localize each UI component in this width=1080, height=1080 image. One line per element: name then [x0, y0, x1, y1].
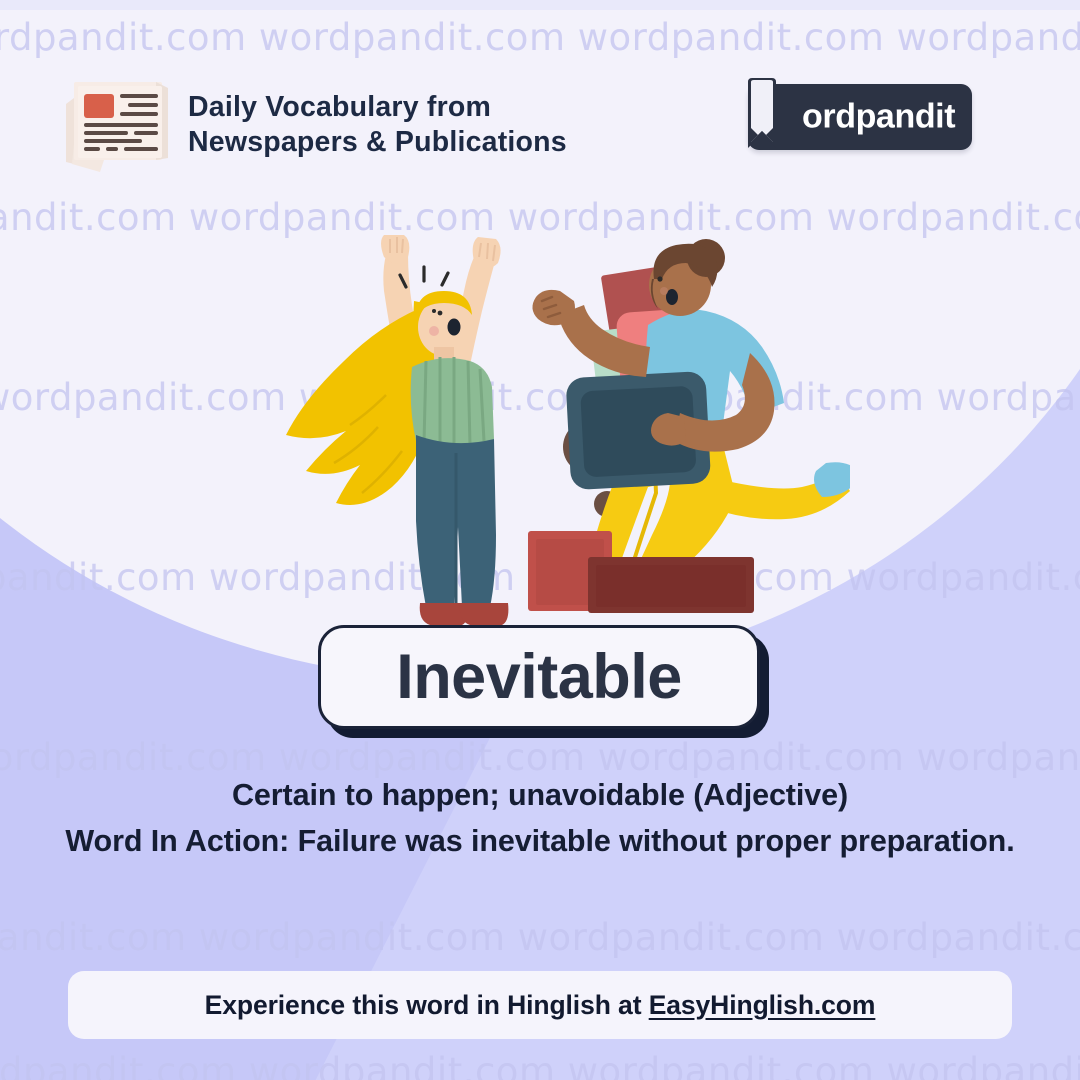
newspaper-icon	[56, 74, 172, 172]
definition-block: Certain to happen; unavoidable (Adjectiv…	[40, 772, 1040, 864]
hinglish-banner-text: Experience this word in Hinglish at Easy…	[205, 990, 876, 1021]
cape	[286, 309, 433, 505]
bookmark-icon	[742, 78, 782, 156]
vocabulary-word: Inevitable	[396, 646, 682, 709]
word-card: Inevitable	[318, 625, 760, 729]
word-in-action-line: Word In Action: Failure was inevitable w…	[40, 818, 1040, 864]
logo-text: ordpandit	[802, 98, 955, 137]
word-card-body: Inevitable	[318, 625, 760, 729]
header-title-line1: Daily Vocabulary from	[188, 90, 567, 125]
definition-line: Certain to happen; unavoidable (Adjectiv…	[40, 772, 1040, 818]
vocabulary-card-page: wordpandit.com wordpandit.com wordpandit…	[0, 0, 1080, 1080]
hinglish-banner-prefix: Experience this word in Hinglish at	[205, 990, 649, 1020]
header-title: Daily Vocabulary from Newspapers & Publi…	[188, 90, 567, 160]
hinglish-banner[interactable]: Experience this word in Hinglish at Easy…	[68, 971, 1012, 1039]
header: Daily Vocabulary from Newspapers & Publi…	[0, 0, 1080, 185]
people-celebrating-with-boxes-illustration	[250, 235, 850, 635]
header-title-line2: Newspapers & Publications	[188, 125, 567, 160]
wordpandit-logo[interactable]: ordpandit	[748, 84, 972, 150]
easyhinglish-link[interactable]: EasyHinglish.com	[649, 990, 876, 1020]
